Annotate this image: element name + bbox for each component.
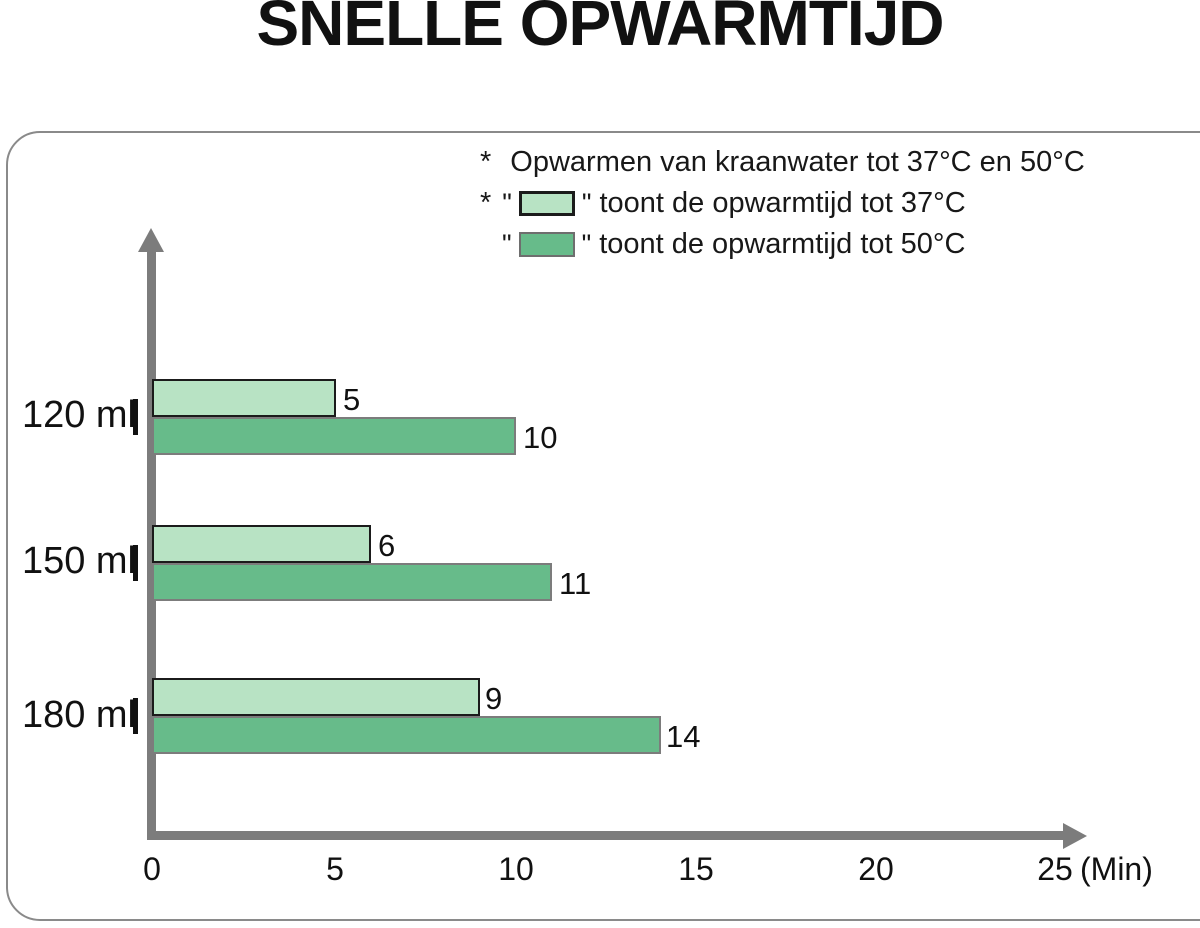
x-tick-label-25: 25: [1033, 851, 1077, 888]
category-label-150ml: 150 ml: [6, 540, 136, 583]
x-tick-label-0: 0: [132, 851, 172, 888]
bar-120ml-50c[interactable]: [152, 417, 516, 455]
x-axis-line: [147, 831, 1067, 840]
bar-150ml-50c[interactable]: [152, 563, 552, 601]
bar-chart-plot: 120 ml 5 10 150 ml 6 11 180 ml 9 14 0 5 …: [0, 0, 1200, 928]
y-axis-arrow-icon: [138, 228, 164, 252]
x-tick-label-20: 20: [854, 851, 898, 888]
bar-value-150ml-50c: 11: [559, 566, 591, 602]
bar-180ml-50c[interactable]: [152, 716, 661, 754]
bar-120ml-37c[interactable]: [152, 379, 336, 417]
bar-180ml-37c[interactable]: [152, 678, 480, 716]
bar-value-180ml-37c: 9: [485, 681, 502, 717]
x-tick-label-15: 15: [674, 851, 718, 888]
category-label-120ml: 120 ml: [6, 394, 136, 437]
x-tick-label-5: 5: [315, 851, 355, 888]
bar-value-120ml-37c: 5: [343, 382, 360, 418]
x-axis-unit-label: (Min): [1080, 851, 1153, 888]
bar-value-180ml-50c: 14: [666, 719, 700, 755]
bar-value-150ml-37c: 6: [378, 528, 395, 564]
bar-150ml-37c[interactable]: [152, 525, 371, 563]
x-tick-label-10: 10: [494, 851, 538, 888]
category-label-180ml: 180 ml: [6, 694, 136, 737]
bar-value-120ml-50c: 10: [523, 420, 557, 456]
x-axis-arrow-icon: [1063, 823, 1087, 849]
